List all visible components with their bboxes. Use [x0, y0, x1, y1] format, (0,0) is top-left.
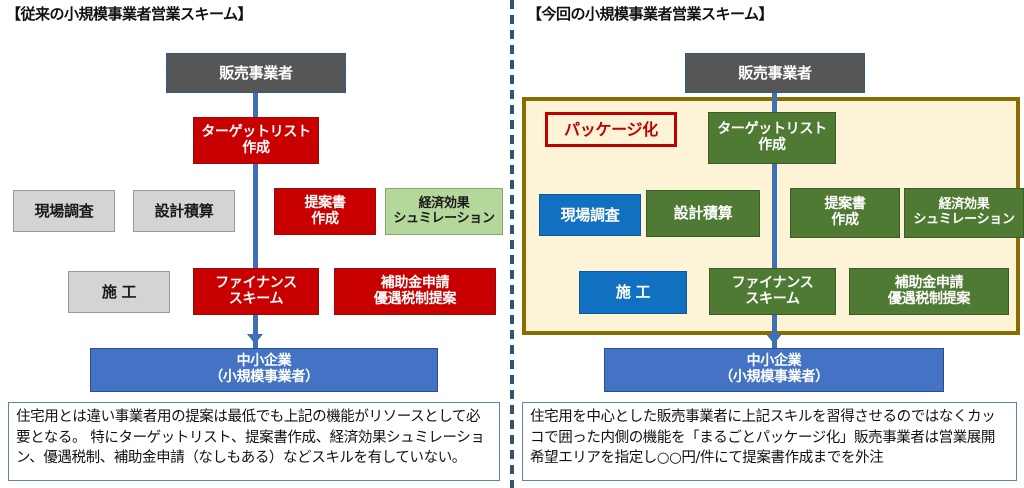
node-econ-simulation-right[interactable]: 経済効果 シュミレーション [904, 188, 1024, 238]
node-econ-simulation-left[interactable]: 経済効果 シュミレーション [385, 188, 503, 235]
node-packaging-label[interactable]: パッケージ化 [545, 112, 677, 147]
node-seller-left[interactable]: 販売事業者 [166, 53, 346, 93]
node-design-estimate-right[interactable]: 設計積算 [646, 190, 760, 237]
page-title-right: 【今回の小規模事業者営業スキーム】 [527, 3, 773, 24]
node-site-survey-right[interactable]: 現場調査 [539, 194, 641, 236]
node-proposal-left[interactable]: 提案書 作成 [274, 188, 376, 235]
node-construction-right[interactable]: 施 工 [579, 271, 687, 314]
node-proposal-right[interactable]: 提案書 作成 [790, 188, 900, 238]
node-design-estimate-left[interactable]: 設計積算 [133, 190, 235, 232]
node-sme-left[interactable]: 中小企業 （小規模事業者） [90, 348, 438, 392]
arrow-down-to-sme-right [766, 334, 782, 344]
node-target-list-left[interactable]: ターゲットリスト 作成 [193, 117, 319, 164]
node-seller-right[interactable]: 販売事業者 [685, 53, 865, 93]
node-subsidy-right[interactable]: 補助金申請 優遇税制提案 [849, 268, 1009, 315]
caption-right: 住宅用を中心とした販売事業者に上記スキルを習得させるのではなくカッコで囲った内側… [522, 402, 1017, 481]
node-finance-right[interactable]: ファイナンス スキーム [709, 268, 836, 315]
panel-divider [510, 0, 514, 488]
node-sme-right[interactable]: 中小企業 （小規模事業者） [604, 348, 944, 392]
node-site-survey-left[interactable]: 現場調査 [13, 190, 115, 232]
panel-legacy-scheme: 【従来の小規模事業者営業スキーム】 販売事業者 ターゲットリスト 作成 現場調査… [0, 0, 505, 488]
node-finance-left[interactable]: ファイナンス スキーム [193, 268, 319, 315]
node-subsidy-left[interactable]: 補助金申請 優遇税制提案 [334, 268, 496, 315]
page-title-left: 【従来の小規模事業者営業スキーム】 [6, 3, 252, 24]
arrow-down-to-sme-left [247, 334, 263, 344]
caption-left: 住宅用とは違い事業者用の提案は最低でも上記の機能がリソースとして必要となる。 特… [8, 402, 500, 481]
node-target-list-right[interactable]: ターゲットリスト 作成 [708, 112, 836, 164]
panel-new-scheme: 【今回の小規模事業者営業スキーム】 販売事業者 パッケージ化 ターゲットリスト … [519, 0, 1024, 488]
node-construction-left[interactable]: 施 工 [68, 271, 170, 313]
